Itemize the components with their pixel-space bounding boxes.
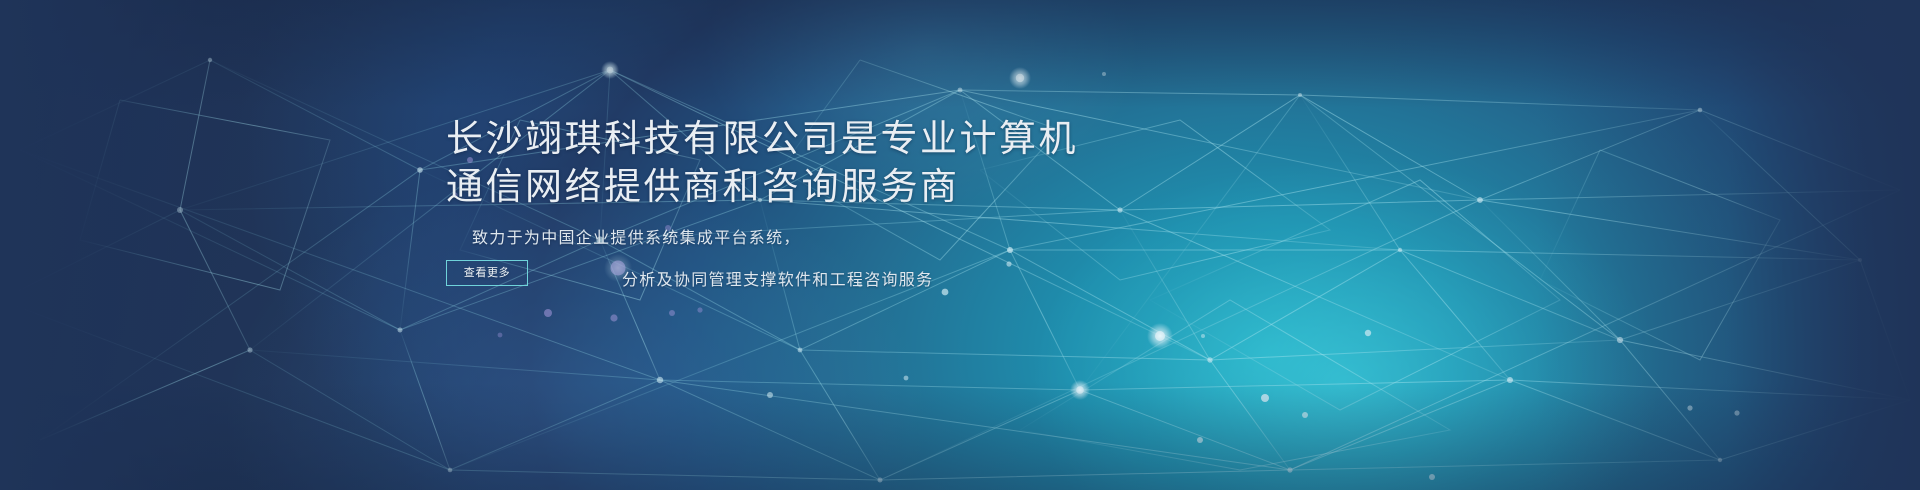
headline-line-2: 通信网络提供商和咨询服务商 [446,166,1426,210]
view-more-button[interactable]: 查看更多 [446,260,528,286]
hero-banner: 长沙翊琪科技有限公司是专业计算机 通信网络提供商和咨询服务商 致力于为中国企业提… [0,0,1920,490]
subtitle-block: 致力于为中国企业提供系统集成平台系统， 分析及协同管理支撑软件和工程咨询服务 [446,226,1426,294]
banner-content: 长沙翊琪科技有限公司是专业计算机 通信网络提供商和咨询服务商 致力于为中国企业提… [446,118,1426,294]
subtitle-line-1: 致力于为中国企业提供系统集成平台系统， [472,226,1426,252]
subtitle-line-2: 分析及协同管理支撑软件和工程咨询服务 [622,268,1426,294]
headline-line-1: 长沙翊琪科技有限公司是专业计算机 [446,118,1426,162]
